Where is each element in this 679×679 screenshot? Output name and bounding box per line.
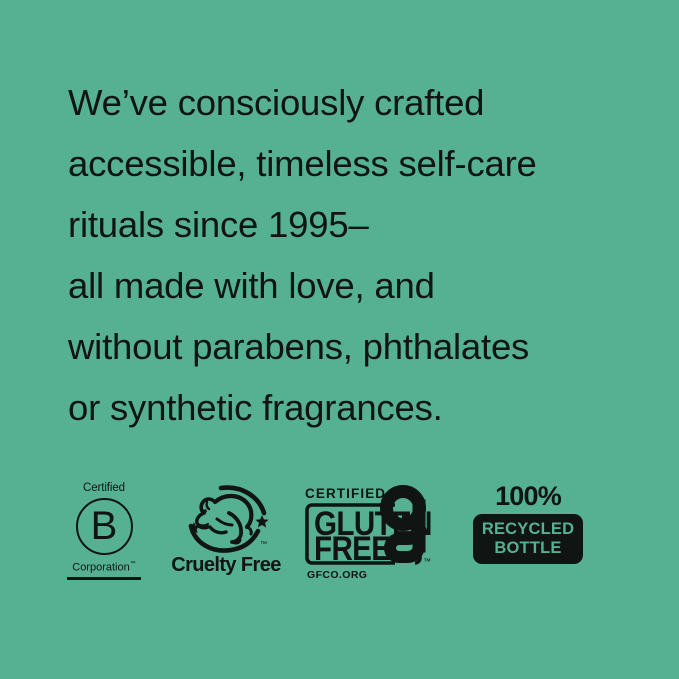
recycled-line2-label: BOTTLE (494, 539, 561, 557)
bunny-star-right-icon (255, 515, 268, 528)
headline-line-1: We’ve consciously crafted (68, 72, 658, 133)
headline-line-4: all made with love, and (68, 255, 658, 316)
leaping-bunny-icon: ™ (174, 482, 278, 554)
gluten-free-line2: FREE (314, 529, 391, 568)
cruelty-free-label: Cruelty Free (171, 555, 281, 576)
b-corp-corporation-text: Corporation (72, 562, 129, 574)
gfco-g-glyph-icon (387, 492, 420, 558)
headline-line-6: or synthetic fragrances. (68, 377, 658, 438)
gluten-free-certified-label: CERTIFIED (305, 486, 386, 501)
bunny-eye-icon (203, 509, 207, 513)
recycled-percent-label: 100% (495, 482, 561, 511)
b-corp-circle-icon: B (76, 498, 133, 555)
b-corp-underline-rule (67, 577, 141, 580)
cruelty-free-trademark-icon: ™ (260, 541, 267, 548)
promo-banner: We’ve consciously crafted accessible, ti… (0, 0, 679, 679)
recycled-line1-label: RECYCLED (482, 520, 574, 538)
b-corp-trademark-icon: ™ (130, 561, 136, 567)
headline-text-block: We’ve consciously crafted accessible, ti… (68, 72, 658, 438)
recycled-bottle-box: RECYCLED BOTTLE (473, 514, 583, 564)
certification-badge-row: Certified B Corporation™ (0, 482, 679, 597)
b-corp-corporation-label: Corporation™ (72, 559, 135, 574)
gluten-free-trademark-icon: ™ (423, 557, 431, 566)
headline-line-5: without parabens, phthalates (68, 316, 658, 377)
b-corporation-badge: Certified B Corporation™ (64, 482, 144, 592)
gluten-free-url-label: GFCO.ORG (307, 569, 367, 581)
gluten-free-badge: CERTIFIED GLUTEN FREE ™ (303, 482, 443, 592)
headline-line-2: accessible, timeless self-care (68, 133, 658, 194)
gfco-gluten-free-icon: CERTIFIED GLUTEN FREE ™ (303, 482, 443, 582)
b-corp-certified-label: Certified (83, 482, 125, 495)
headline-line-3: rituals since 1995– (68, 194, 658, 255)
recycled-bottle-badge: 100% RECYCLED BOTTLE (478, 482, 578, 592)
b-corp-letter: B (91, 506, 118, 546)
cruelty-free-badge: ™ Cruelty Free (172, 482, 280, 592)
